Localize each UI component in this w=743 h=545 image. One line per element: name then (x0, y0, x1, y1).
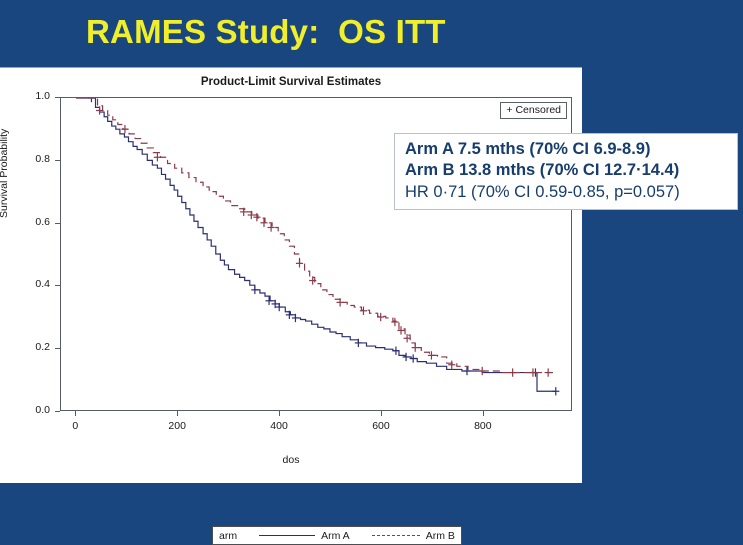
censor-marker (479, 367, 486, 375)
slide-title: RAMES Study: OS ITT (0, 0, 743, 62)
chart-heading: Product-Limit Survival Estimates (0, 76, 582, 88)
x-axis-title: dos (0, 454, 582, 466)
stats-callout: Arm A 7.5 mths (70% CI 6.9-8.9) Arm B 13… (394, 133, 738, 210)
censored-legend-box: + Censored (500, 102, 567, 119)
x-tick-label: 400 (259, 420, 299, 432)
arm-legend: arm Arm A Arm B (212, 526, 462, 545)
censor-marker (296, 259, 303, 267)
censor-marker (268, 223, 275, 231)
stats-line-arm-a: Arm A 7.5 mths (70% CI 6.9-8.9) (405, 139, 728, 160)
censor-marker (121, 125, 128, 133)
censor-marker (402, 353, 409, 361)
stats-line-arm-b: Arm B 13.8 mths (70% CI 12.7·14.4) (405, 160, 728, 181)
legend-label-arm-b: Arm B (426, 530, 455, 542)
x-tick-mark (75, 411, 76, 416)
censor-marker (463, 367, 470, 375)
y-tick-label: 0.6 (4, 216, 50, 228)
x-tick-mark (381, 411, 382, 416)
y-tick-label: 0.0 (4, 404, 50, 416)
x-tick-mark (279, 411, 280, 416)
x-tick-label: 200 (157, 420, 197, 432)
censor-marker (253, 213, 260, 221)
y-tick-label: 1.0 (4, 90, 50, 102)
x-tick-mark (177, 411, 178, 416)
slide-canvas: RAMES Study: OS ITT Product-Limit Surviv… (0, 0, 743, 482)
censor-marker (509, 368, 516, 376)
y-tick-label: 0.4 (4, 278, 50, 290)
legend-line-arm-a-icon (259, 535, 315, 536)
censor-marker (412, 343, 419, 351)
censor-marker (545, 368, 552, 376)
y-tick-label: 0.8 (4, 153, 50, 165)
censor-marker (410, 354, 417, 362)
censor-marker (251, 286, 258, 294)
censor-marker (552, 387, 559, 395)
x-tick-label: 0 (55, 420, 95, 432)
x-tick-label: 600 (361, 420, 401, 432)
legend-label-arm-a: Arm A (321, 530, 350, 542)
chart-panel: Product-Limit Survival Estimates Surviva… (0, 67, 582, 483)
y-axis-title: Survival Probability (0, 129, 10, 218)
slide-title-text: RAMES Study: OS ITT (86, 15, 446, 48)
y-tick-label: 0.2 (4, 341, 50, 353)
censor-marker (260, 219, 267, 227)
legend-line-arm-b-icon (372, 535, 420, 536)
y-tick-mark (55, 411, 60, 412)
censor-marker (448, 361, 455, 369)
censor-marker (88, 98, 95, 102)
stats-line-hazard-ratio: HR 0·71 (70% CI 0.59-0.85, p=0.057) (405, 182, 728, 203)
x-tick-label: 800 (463, 420, 503, 432)
x-tick-mark (483, 411, 484, 416)
censor-marker (154, 153, 161, 161)
legend-title: arm (219, 530, 237, 542)
